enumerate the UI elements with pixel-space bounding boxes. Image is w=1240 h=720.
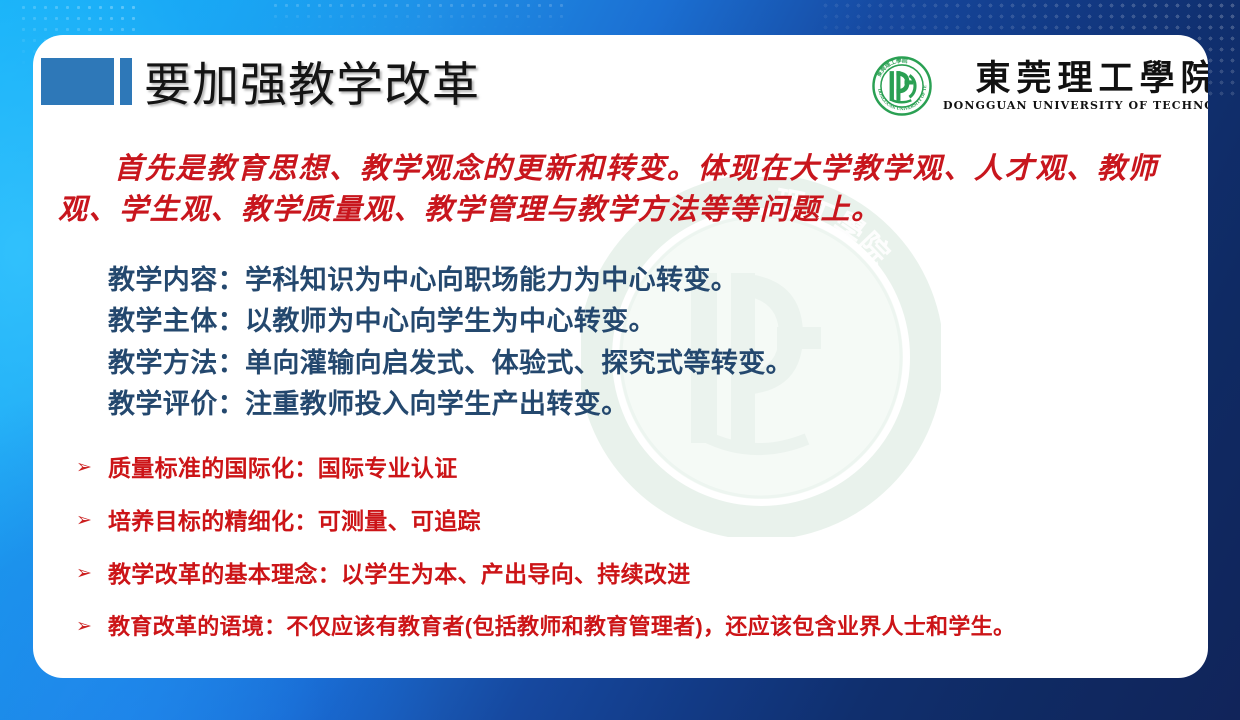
statement-list: 教学内容：学科知识为中心向职场能力为中心转变。 教学主体：以教师为中心向学生为中… — [108, 260, 1108, 425]
university-logo: 東莞理工學院 DONGGUAN UNIVERSITY OF TECHNOLOGY… — [871, 55, 1208, 117]
bullet-item: ➢ 教育改革的语境：不仅应该有教育者(包括教师和教育管理者)，还应该包含业界人士… — [74, 611, 1204, 664]
bullet-list: ➢ 质量标准的国际化：国际专业认证 ➢ 培养目标的精细化：可测量、可追踪 ➢ 教… — [74, 452, 1204, 664]
bullet-item-label: 培养目标的精细化：可测量、可追踪 — [108, 505, 481, 537]
title-accent-block-large — [41, 58, 114, 105]
arrow-bullet-icon: ➢ — [74, 505, 94, 537]
statement-item: 教学内容：学科知识为中心向职场能力为中心转变。 — [108, 260, 1108, 301]
intro-paragraph: 首先是教育思想、教学观念的更新和转变。体现在大学教学观、人才观、教师观、学生观、… — [58, 148, 1158, 230]
presentation-slide: UNIVERSITY OF TECHNOLOGY 理工學院 要加强教学改革 — [0, 0, 1240, 720]
statement-item: 教学方法：单向灌输向启发式、体验式、探究式等转变。 — [108, 343, 1108, 384]
page-title: 要加强教学改革 — [144, 46, 480, 115]
bullet-item-label: 教学改革的基本理念：以学生为本、产出导向、持续改进 — [108, 558, 691, 590]
logo-text-block: 東莞理工學院 DONGGUAN UNIVERSITY OF TECHNOLOGY — [943, 60, 1208, 112]
bullet-item: ➢ 培养目标的精细化：可测量、可追踪 — [74, 505, 1204, 558]
arrow-bullet-icon: ➢ — [74, 611, 94, 643]
background-dot-pattern — [270, 0, 570, 34]
university-seal-icon: 東莞理工學院 DONGGUAN UNIVERSITY OF TECHNOLOGY — [871, 55, 933, 117]
title-accent-block-small — [120, 58, 132, 105]
bullet-item: ➢ 质量标准的国际化：国际专业认证 — [74, 452, 1204, 505]
arrow-bullet-icon: ➢ — [74, 452, 94, 484]
statement-item: 教学评价：注重教师投入向学生产出转变。 — [108, 384, 1108, 425]
logo-name-en: DONGGUAN UNIVERSITY OF TECHNOLOGY — [943, 99, 1208, 112]
bullet-item: ➢ 教学改革的基本理念：以学生为本、产出导向、持续改进 — [74, 558, 1204, 611]
bullet-item-label: 教育改革的语境：不仅应该有教育者(包括教师和教育管理者)，还应该包含业界人士和学… — [108, 611, 1015, 643]
bullet-item-label: 质量标准的国际化：国际专业认证 — [108, 452, 458, 484]
logo-name-cn: 東莞理工學院 — [975, 60, 1208, 97]
statement-item: 教学主体：以教师为中心向学生为中心转变。 — [108, 301, 1108, 342]
arrow-bullet-icon: ➢ — [74, 558, 94, 590]
